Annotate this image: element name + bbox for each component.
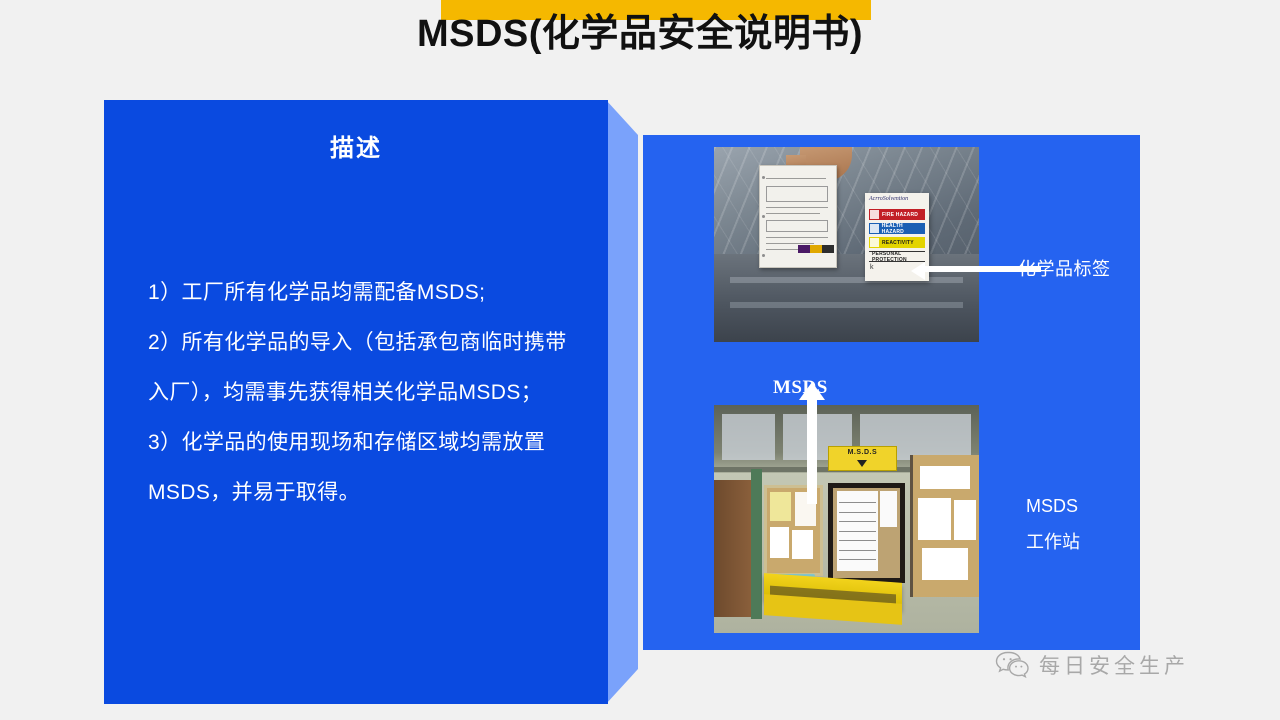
hazard-row-health-label: HEALTH HAZARD	[882, 223, 925, 235]
hazard-row-reactivity-label: REACTIVITY	[882, 240, 914, 246]
document-color-band	[798, 245, 834, 253]
down-arrow-icon	[857, 460, 867, 467]
hazard-row-fire-label: FIRE HAZARD	[882, 212, 918, 218]
reactivity-swatch-icon	[870, 238, 879, 247]
arrow-up-to-msds-document	[799, 382, 825, 504]
hazard-row-ppe: PERSONAL PROTECTION	[869, 251, 925, 262]
callout-chemical-label: 化学品标签	[1018, 255, 1111, 281]
watermark-text: 每日安全生产	[1039, 650, 1189, 680]
msds-sign-text: M.S.D.S	[829, 449, 896, 456]
photo2-msds-chart	[837, 491, 878, 570]
slide-root: MSDS(化学品安全说明书) 描述 1）工厂所有化学品均需配备MSDS; 2）所…	[0, 0, 1280, 720]
photo2-side-sheet	[880, 491, 897, 527]
photo2-bulletin-board-right	[910, 455, 979, 596]
hazard-row-health: HEALTH HAZARD	[869, 223, 925, 234]
label-scribble-icon: k	[870, 264, 874, 271]
photo2-door	[714, 480, 751, 617]
left-panel-3d-side-face	[606, 100, 638, 704]
photo2-window-left	[722, 414, 775, 460]
description-bullet-3: 3）化学品的使用现场和存储区域均需放置MSDS，并易于取得。	[148, 418, 572, 518]
watermark: 每日安全生产	[995, 650, 1189, 680]
hazard-row-reactivity: REACTIVITY	[869, 237, 925, 248]
description-bullet-1: 1）工厂所有化学品均需配备MSDS;	[148, 268, 572, 318]
callout-msds: MSDS	[773, 377, 828, 399]
msds-document-sheet	[759, 165, 837, 268]
description-bullet-2: 2）所有化学品的导入（包括承包商临时携带入厂），均需事先获得相关化学品MSDS；	[148, 318, 572, 418]
page-title: MSDS(化学品安全说明书)	[0, 8, 1280, 60]
description-panel-header: 描述	[104, 100, 608, 163]
photo2-green-post	[751, 469, 762, 619]
fire-hazard-swatch-icon	[870, 210, 879, 219]
msds-document-photo: AcrroSolvention FIRE HAZARD HEALTH HAZAR…	[714, 147, 979, 342]
description-panel: 描述 1）工厂所有化学品均需配备MSDS; 2）所有化学品的导入（包括承包商临时…	[104, 100, 608, 704]
images-panel: AcrroSolvention FIRE HAZARD HEALTH HAZAR…	[643, 135, 1140, 650]
callout-workstation: MSDS 工作站	[1026, 488, 1080, 560]
hazard-row-ppe-label: PERSONAL PROTECTION	[872, 251, 925, 263]
photo2-msds-binder-frame	[828, 483, 905, 583]
msds-workstation-photo: M.S.D.S	[714, 405, 979, 633]
callout-workstation-line2: 工作站	[1026, 524, 1080, 560]
callout-workstation-line1: MSDS	[1026, 488, 1080, 524]
wechat-icon	[995, 650, 1029, 680]
label-handwritten-title: AcrroSolvention	[869, 196, 908, 202]
hazard-row-fire: FIRE HAZARD	[869, 209, 925, 220]
health-hazard-swatch-icon	[870, 224, 879, 233]
msds-sign: M.S.D.S	[828, 446, 897, 471]
description-panel-body: 1）工厂所有化学品均需配备MSDS; 2）所有化学品的导入（包括承包商临时携带入…	[148, 268, 572, 518]
